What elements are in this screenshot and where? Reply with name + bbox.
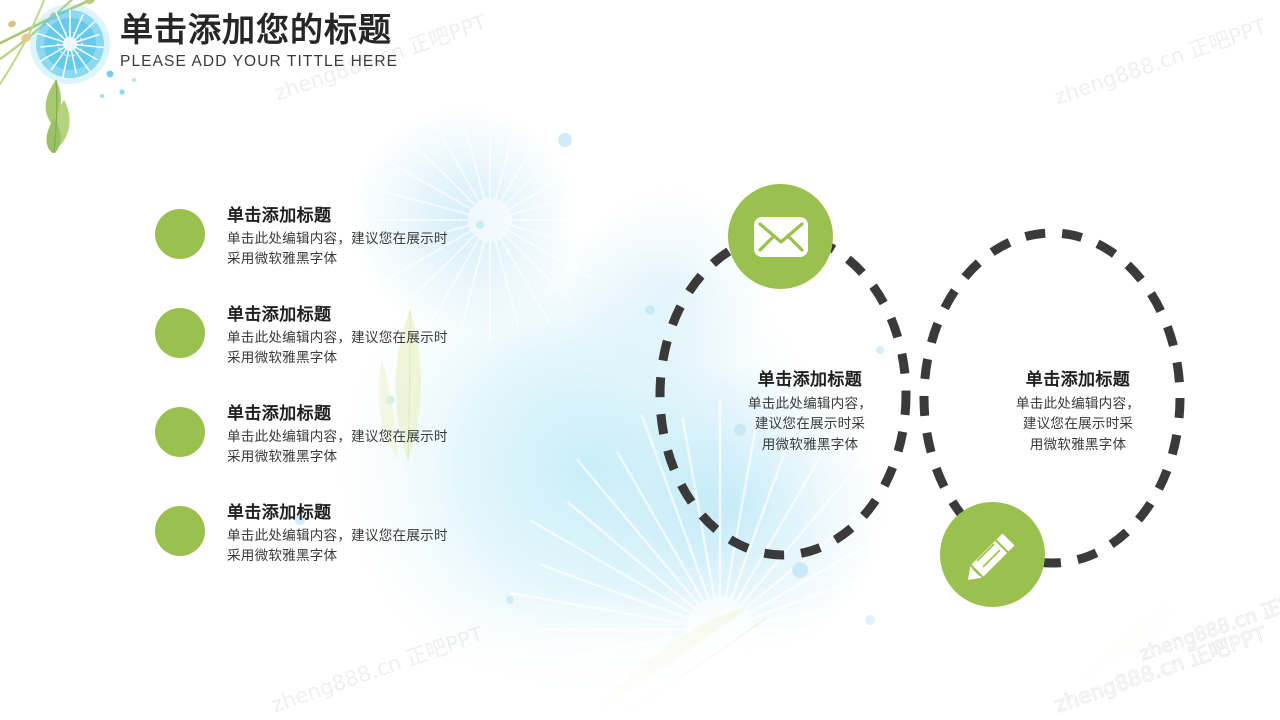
list-item-body: 单击此处编辑内容，建议您在展示时 采用微软雅黑字体 [227, 526, 527, 567]
list-item[interactable]: 单击添加标题 单击此处编辑内容，建议您在展示时 采用微软雅黑字体 [155, 502, 575, 601]
list-item-body-line: 采用微软雅黑字体 [227, 447, 527, 467]
envelope-badge[interactable] [728, 184, 833, 289]
diagram-node-body: 单击此处编辑内容， 建议您在展示时采 用微软雅黑字体 [715, 394, 905, 456]
pencil-icon [966, 528, 1020, 582]
list-item-heading: 单击添加标题 [227, 205, 527, 228]
pencil-badge[interactable] [940, 502, 1045, 607]
list-item-text: 单击添加标题 单击此处编辑内容，建议您在展示时 采用微软雅黑字体 [227, 205, 527, 270]
page-title: 单击添加您的标题 [120, 12, 398, 49]
list-item-body-line: 单击此处编辑内容，建议您在展示时 [227, 328, 527, 348]
bullet-dot-icon [155, 407, 205, 457]
diagram-node-body: 单击此处编辑内容， 建议您在展示时采 用微软雅黑字体 [983, 394, 1173, 456]
watermark: zheng888.cn 正吧PPT [267, 618, 487, 719]
diagram-node-heading: 单击添加标题 [983, 368, 1173, 392]
list-item-body: 单击此处编辑内容，建议您在展示时 采用微软雅黑字体 [227, 229, 527, 270]
diagram-node-heading: 单击添加标题 [715, 368, 905, 392]
list-item[interactable]: 单击添加标题 单击此处编辑内容，建议您在展示时 采用微软雅黑字体 [155, 403, 575, 502]
list-item-text: 单击添加标题 单击此处编辑内容，建议您在展示时 采用微软雅黑字体 [227, 502, 527, 567]
presentation-slide: 单击添加您的标题 PLEASE ADD YOUR TITTLE HERE 单击添… [0, 0, 1280, 720]
diagram-node-body-line: 用微软雅黑字体 [983, 435, 1173, 456]
list-item-heading: 单击添加标题 [227, 403, 527, 426]
watermark: zheng888.cn 正吧PPT [1050, 10, 1270, 111]
list-item-body-line: 单击此处编辑内容，建议您在展示时 [227, 229, 527, 249]
list-item-body-line: 采用微软雅黑字体 [227, 249, 527, 269]
list-item-body-line: 采用微软雅黑字体 [227, 546, 527, 566]
list-item-body-line: 单击此处编辑内容，建议您在展示时 [227, 427, 527, 447]
dashed-loop-diagram: 单击添加标题 单击此处编辑内容， 建议您在展示时采 用微软雅黑字体 单击添加标题… [620, 170, 1220, 650]
envelope-icon [753, 216, 809, 258]
list-item-body: 单击此处编辑内容，建议您在展示时 采用微软雅黑字体 [227, 328, 527, 369]
diagram-node-body-line: 单击此处编辑内容， [715, 394, 905, 415]
diagram-node-text: 单击添加标题 单击此处编辑内容， 建议您在展示时采 用微软雅黑字体 [715, 368, 905, 456]
diagram-node-body-line: 建议您在展示时采 [715, 414, 905, 435]
list-item-body-line: 采用微软雅黑字体 [227, 348, 527, 368]
list-item[interactable]: 单击添加标题 单击此处编辑内容，建议您在展示时 采用微软雅黑字体 [155, 205, 575, 304]
diagram-node-body-line: 建议您在展示时采 [983, 414, 1173, 435]
bullet-dot-icon [155, 209, 205, 259]
list-item-text: 单击添加标题 单击此处编辑内容，建议您在展示时 采用微软雅黑字体 [227, 304, 527, 369]
list-item-body-line: 单击此处编辑内容，建议您在展示时 [227, 526, 527, 546]
bullet-dot-icon [155, 308, 205, 358]
list-item-body: 单击此处编辑内容，建议您在展示时 采用微软雅黑字体 [227, 427, 527, 468]
bullet-list: 单击添加标题 单击此处编辑内容，建议您在展示时 采用微软雅黑字体 单击添加标题 … [155, 205, 575, 601]
list-item[interactable]: 单击添加标题 单击此处编辑内容，建议您在展示时 采用微软雅黑字体 [155, 304, 575, 403]
list-item-heading: 单击添加标题 [227, 304, 527, 327]
bullet-dot-icon [155, 506, 205, 556]
diagram-node-body-line: 用微软雅黑字体 [715, 435, 905, 456]
list-item-heading: 单击添加标题 [227, 502, 527, 525]
diagram-node-body-line: 单击此处编辑内容， [983, 394, 1173, 415]
list-item-text: 单击添加标题 单击此处编辑内容，建议您在展示时 采用微软雅黑字体 [227, 403, 527, 468]
diagram-node-text: 单击添加标题 单击此处编辑内容， 建议您在展示时采 用微软雅黑字体 [983, 368, 1173, 456]
